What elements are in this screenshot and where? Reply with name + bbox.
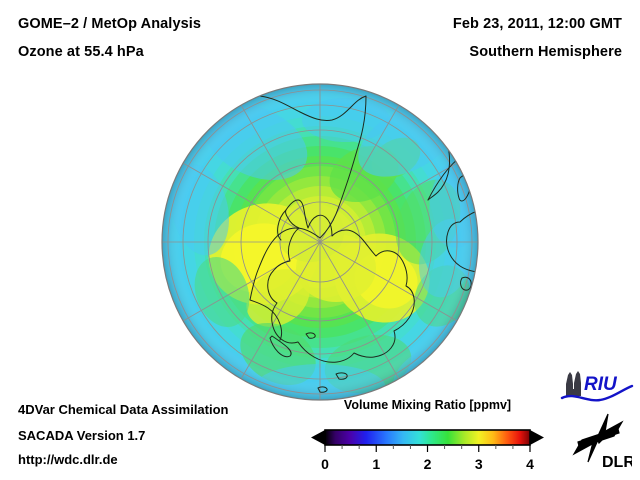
- page-subtitle: Ozone at 55.4 hPa: [18, 44, 144, 60]
- hemisphere-label: Southern Hemisphere: [469, 44, 622, 60]
- svg-text:1: 1: [372, 456, 380, 472]
- cathedral-icon: [566, 371, 581, 396]
- version-label: SACADA Version 1.7: [18, 428, 145, 443]
- riu-logo-svg: RIU: [560, 370, 634, 406]
- colorbar-min-arrow: [311, 430, 325, 445]
- colorbar-title: Volume Mixing Ratio [ppmv]: [305, 398, 550, 412]
- ozone-globe-map: [160, 82, 480, 402]
- assimilation-label: 4DVar Chemical Data Assimilation: [18, 402, 229, 417]
- colorbar-tick-labels: 01234: [321, 456, 534, 472]
- dlr-wordmark: DLR: [602, 454, 632, 471]
- svg-text:3: 3: [475, 456, 483, 472]
- riu-wordmark: RIU: [584, 374, 618, 395]
- orthographic-projection-svg: [160, 82, 480, 402]
- svg-text:0: 0: [321, 456, 329, 472]
- website-link[interactable]: http://wdc.dlr.de: [18, 452, 118, 467]
- page-title: GOME–2 / MetOp Analysis: [18, 16, 201, 32]
- coastline-new-zealand: [470, 302, 480, 316]
- colorbar-ticks: [325, 445, 530, 452]
- timestamp-label: Feb 23, 2011, 12:00 GMT: [453, 16, 622, 32]
- dlr-logo-svg: DLR: [566, 412, 632, 472]
- visualization-page: GOME–2 / MetOp Analysis Ozone at 55.4 hP…: [0, 0, 640, 480]
- colorbar-max-arrow: [530, 430, 544, 445]
- riu-logo: RIU: [560, 370, 634, 406]
- dlr-logo: DLR: [566, 412, 632, 472]
- svg-text:2: 2: [424, 456, 432, 472]
- colorbar-svg: 01234: [305, 416, 550, 474]
- colorbar-gradient: [325, 430, 530, 445]
- colorbar: Volume Mixing Ratio [ppmv] 01234: [305, 398, 550, 474]
- svg-text:4: 4: [526, 456, 534, 472]
